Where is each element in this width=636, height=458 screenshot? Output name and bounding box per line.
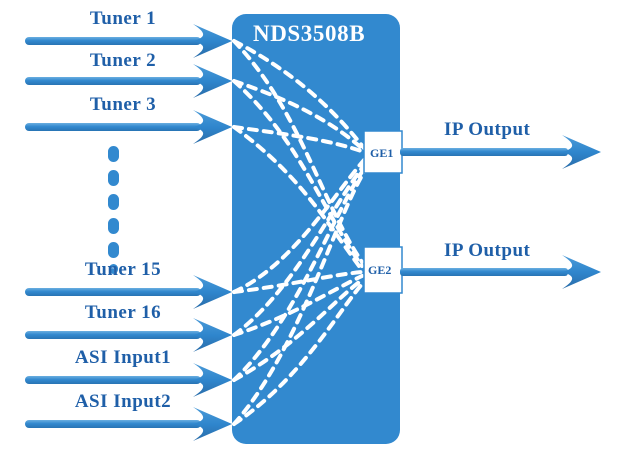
input-label-tuner-1: Tuner 1 (63, 8, 183, 30)
input-label-tuner-16: Tuner 16 (63, 302, 183, 324)
input-label-tuner-15: Tuner 15 (63, 259, 183, 281)
block-diagram: Tuner 1 Tuner 2 Tuner 3 Tuner 15 Tuner 1… (0, 0, 636, 458)
input-label-tuner-3: Tuner 3 (63, 94, 183, 116)
output-label-1: IP Output (444, 119, 530, 141)
device-body (232, 14, 400, 444)
vertical-ellipsis (108, 146, 119, 274)
output-arrows (400, 135, 601, 289)
output-label-2: IP Output (444, 240, 530, 262)
input-label-tuner-2: Tuner 2 (63, 50, 183, 72)
input-arrows (25, 24, 232, 441)
input-label-asi-input-2: ASI Input2 (63, 391, 183, 413)
port-label-ge1: GE1 (370, 146, 393, 161)
port-label-ge2: GE2 (368, 263, 391, 278)
device-title: NDS3508B (253, 21, 365, 47)
input-label-asi-input-1: ASI Input1 (63, 347, 183, 369)
